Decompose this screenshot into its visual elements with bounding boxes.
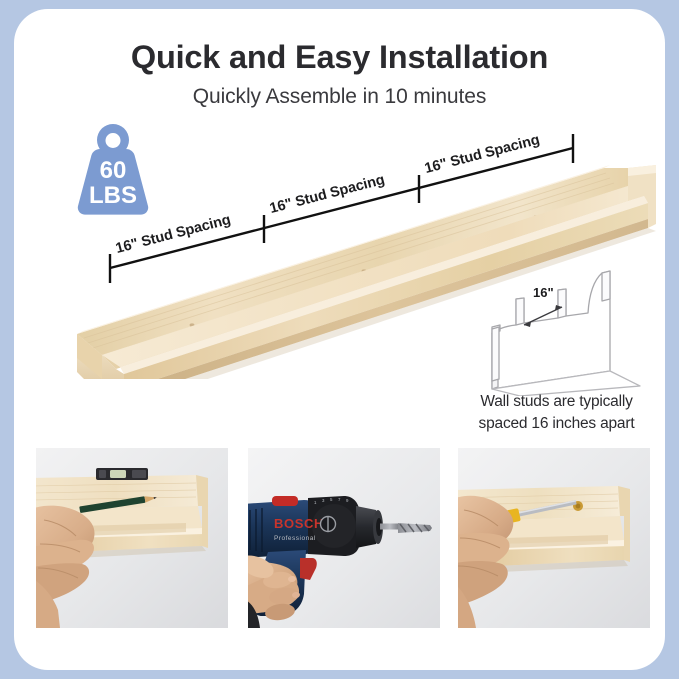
stud-caption-line-2: spaced 16 inches apart (449, 413, 664, 435)
stud-caption-line-1: Wall studs are typically (449, 391, 664, 413)
weight-value: 60 (100, 157, 127, 184)
photo-drilling-hole: 13 57 9 BOSCH Professional (248, 448, 440, 628)
weight-unit: LBS (89, 182, 137, 209)
page-title: Quick and Easy Installation (14, 39, 665, 76)
page-subtitle: Quickly Assemble in 10 minutes (14, 85, 665, 109)
photo-driving-screw (458, 448, 650, 628)
stud-measure-label: 16" (533, 285, 554, 300)
product-info-card: Quick and Easy Installation Quickly Asse… (14, 9, 665, 670)
photo-marking-with-pencil (36, 448, 228, 628)
drill-brand-sub-label: Professional (274, 535, 316, 542)
wall-stud-diagram: 16" (462, 261, 652, 396)
stud-diagram-caption: Wall studs are typically spaced 16 inche… (449, 391, 664, 435)
weight-capacity-badge: 60 LBS (70, 120, 156, 220)
drill-brand-label: BOSCH (274, 516, 324, 531)
